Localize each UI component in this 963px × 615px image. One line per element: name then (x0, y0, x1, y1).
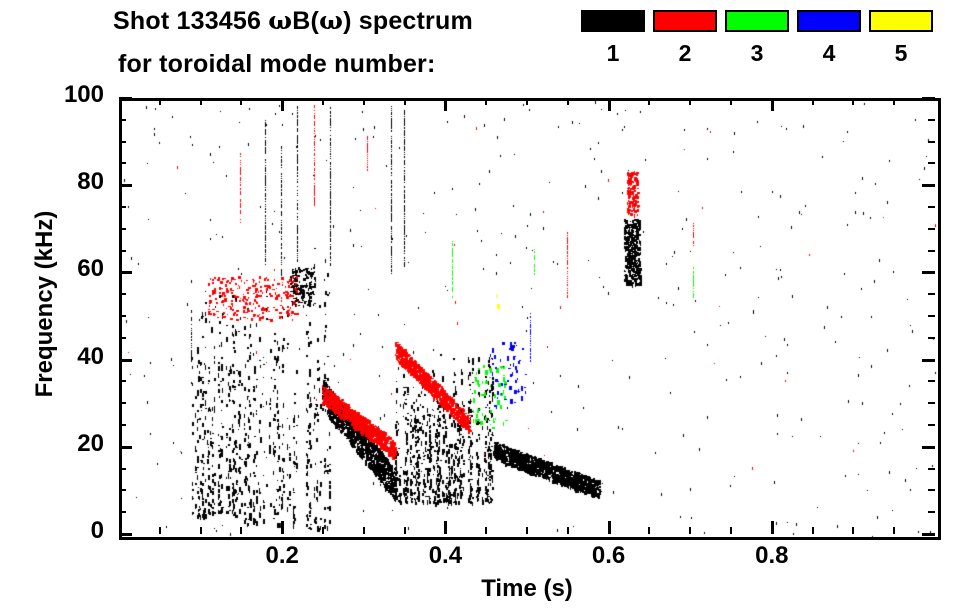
legend-item-1[interactable]: 1 (581, 10, 645, 32)
y-tick-major (119, 271, 132, 274)
x-tick-minor (404, 527, 406, 534)
legend-swatch-3 (725, 10, 789, 32)
legend-swatch-5 (869, 10, 933, 32)
x-tick-minor-top (363, 98, 365, 105)
y-tick-minor (119, 119, 126, 121)
legend-item-3[interactable]: 3 (725, 10, 789, 32)
x-tick-minor (159, 527, 161, 534)
legend-item-5[interactable]: 5 (869, 10, 933, 32)
x-tick-minor-top (322, 98, 324, 105)
y-tick-minor-right (928, 468, 935, 470)
legend-label-4: 4 (797, 40, 861, 67)
y-tick-major-right (922, 533, 935, 536)
legend-swatch-1 (581, 10, 645, 32)
y-tick-minor (119, 511, 126, 513)
y-tick-minor-right (928, 119, 935, 121)
x-tick-minor-top (404, 98, 406, 105)
legend-label-5: 5 (869, 40, 933, 67)
legend-swatch-2 (653, 10, 717, 32)
y-tick-minor (119, 468, 126, 470)
y-tick-minor (119, 293, 126, 295)
y-tick-minor (119, 337, 126, 339)
legend-label-2: 2 (653, 40, 717, 67)
y-tick-major (119, 533, 132, 536)
x-tick-minor-top (812, 98, 814, 105)
x-tick-minor (648, 527, 650, 534)
omega-symbol-2: ω (319, 6, 343, 35)
title-shot-text: Shot 133456 (113, 7, 268, 35)
y-tick-minor-right (928, 162, 935, 164)
x-tick-minor (567, 527, 569, 534)
x-tick-minor-top (648, 98, 650, 105)
spectrogram-figure: Shot 133456 ωB(ω) spectrum for toroidal … (0, 0, 963, 615)
x-tick-minor (689, 527, 691, 534)
legend-item-2[interactable]: 2 (653, 10, 717, 32)
y-tick-label: 100 (34, 81, 104, 109)
x-tick-major-top (771, 98, 774, 111)
x-tick-label: 0.6 (569, 542, 649, 570)
y-tick-label: 40 (34, 343, 104, 371)
omega-symbol-1: ω (268, 6, 292, 35)
title-spectrum-text: ) spectrum (343, 7, 473, 35)
y-tick-minor (119, 380, 126, 382)
y-tick-label: 0 (34, 517, 104, 545)
y-axis-label: Frequency (kHz) (31, 184, 59, 424)
y-tick-minor (119, 250, 126, 252)
y-tick-major (119, 97, 132, 100)
x-tick-major-top (608, 98, 611, 111)
y-tick-major (119, 359, 132, 362)
y-tick-major-right (922, 271, 935, 274)
y-tick-major (119, 184, 132, 187)
legend: 12345 (575, 10, 963, 85)
legend-item-4[interactable]: 4 (797, 10, 861, 32)
x-tick-minor (485, 527, 487, 534)
y-tick-minor (119, 315, 126, 317)
x-tick-minor-top (159, 98, 161, 105)
x-tick-minor-top (730, 98, 732, 105)
figure-title-line-2: for toroidal mode number: (118, 50, 436, 79)
x-tick-minor (852, 527, 854, 534)
y-tick-minor (119, 206, 126, 208)
y-tick-minor (119, 228, 126, 230)
x-tick-minor-top (689, 98, 691, 105)
legend-label-1: 1 (581, 40, 645, 67)
x-tick-major (444, 521, 447, 534)
y-tick-major-right (922, 184, 935, 187)
y-tick-minor-right (928, 250, 935, 252)
x-tick-minor-top (240, 98, 242, 105)
x-tick-major (771, 521, 774, 534)
y-tick-minor-right (928, 402, 935, 404)
y-tick-minor-right (928, 424, 935, 426)
y-tick-major-right (922, 359, 935, 362)
y-tick-minor (119, 141, 126, 143)
x-tick-label: 0.2 (242, 542, 322, 570)
y-tick-minor-right (928, 337, 935, 339)
x-tick-minor (200, 527, 202, 534)
y-tick-major-right (922, 446, 935, 449)
x-tick-minor-top (526, 98, 528, 105)
y-tick-minor-right (928, 141, 935, 143)
y-tick-minor-right (928, 511, 935, 513)
figure-title-line-1: Shot 133456 ωB(ω) spectrum (113, 6, 473, 36)
plot-area (119, 98, 941, 540)
x-tick-major-top (281, 98, 284, 111)
x-tick-minor-top (567, 98, 569, 105)
y-tick-label: 20 (34, 430, 104, 458)
x-tick-label: 0.4 (405, 542, 485, 570)
x-tick-minor (240, 527, 242, 534)
x-tick-label: 0.8 (732, 542, 812, 570)
y-tick-minor (119, 424, 126, 426)
x-tick-minor-top (852, 98, 854, 105)
y-tick-minor-right (928, 380, 935, 382)
y-tick-minor (119, 402, 126, 404)
y-tick-major-right (922, 97, 935, 100)
y-tick-minor (119, 162, 126, 164)
legend-swatch-4 (797, 10, 861, 32)
x-tick-minor-top (200, 98, 202, 105)
x-tick-minor-top (893, 98, 895, 105)
y-tick-label: 80 (34, 168, 104, 196)
x-tick-major-top (444, 98, 447, 111)
y-tick-minor-right (928, 206, 935, 208)
x-tick-minor (730, 527, 732, 534)
x-tick-major (608, 521, 611, 534)
x-tick-minor (526, 527, 528, 534)
y-tick-minor (119, 489, 126, 491)
spectrogram-canvas (122, 101, 938, 537)
y-tick-label: 60 (34, 255, 104, 283)
y-tick-minor-right (928, 293, 935, 295)
x-tick-minor (893, 527, 895, 534)
x-tick-minor (322, 527, 324, 534)
y-tick-minor-right (928, 315, 935, 317)
y-tick-minor-right (928, 228, 935, 230)
x-tick-minor (363, 527, 365, 534)
x-tick-major (281, 521, 284, 534)
title-b-open: B( (292, 7, 319, 35)
y-tick-minor-right (928, 489, 935, 491)
x-tick-minor-top (485, 98, 487, 105)
x-axis-label: Time (s) (119, 575, 935, 603)
x-tick-minor (812, 527, 814, 534)
legend-label-3: 3 (725, 40, 789, 67)
y-tick-major (119, 446, 132, 449)
